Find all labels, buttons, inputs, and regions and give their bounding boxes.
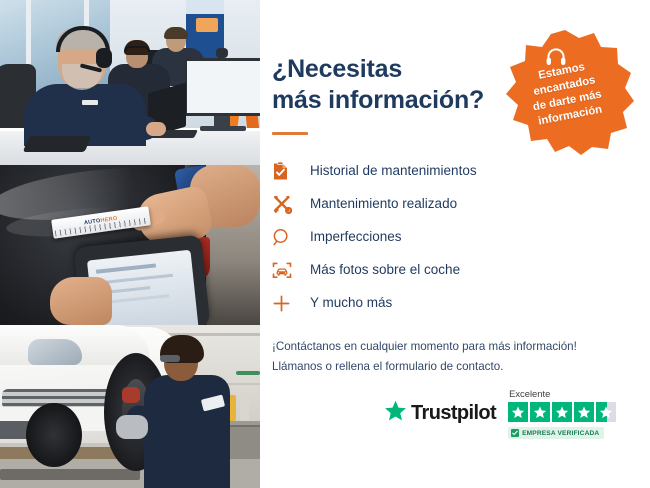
poster-decor — [196, 18, 218, 32]
title-divider — [272, 132, 308, 135]
inspector-hand-2 — [50, 277, 112, 325]
rating-label: Excelente — [509, 388, 550, 399]
feature-item-mantenimiento: Mantenimiento realizado — [272, 188, 650, 220]
star-filled-4 — [574, 402, 594, 422]
feature-label: Y mucho más — [310, 296, 392, 310]
star-rating — [508, 402, 616, 422]
document-check-icon — [272, 160, 298, 182]
photo-collage: AUTOHERO — [0, 0, 260, 488]
feature-item-historial: Historial de mantenimientos — [272, 155, 650, 187]
agent-hand — [146, 122, 166, 136]
trustpilot-logo[interactable]: Trustpilot — [384, 400, 496, 427]
feature-item-fotos: Más fotos sobre el coche — [272, 254, 650, 286]
star-filled-3 — [552, 402, 572, 422]
call-center-agent-photo — [0, 0, 260, 165]
tablet-decor — [23, 136, 91, 152]
car-lift-decor — [0, 469, 140, 480]
trustpilot-widget[interactable]: Trustpilot Excelente — [384, 388, 616, 439]
trustpilot-wordmark: Trustpilot — [411, 402, 496, 425]
check-icon — [511, 429, 519, 437]
feature-label: Imperfecciones — [310, 230, 402, 244]
contact-text: ¡Contáctanos en cualquier momento para m… — [272, 337, 650, 377]
feature-item-mas: Y mucho más — [272, 287, 650, 319]
headlight-decor — [28, 339, 82, 365]
monitor-decor — [184, 58, 260, 116]
bottle-decor-2 — [240, 399, 249, 421]
star-filled-2 — [530, 402, 550, 422]
status-badge: Estamos encantados de darte más informac… — [493, 28, 637, 156]
magnifier-icon — [272, 226, 298, 248]
green-hose-decor — [236, 371, 260, 375]
feature-label: Historial de mantenimientos — [310, 164, 477, 178]
mechanic-wheel-photo — [0, 325, 260, 488]
tools-icon — [272, 193, 298, 215]
safety-glasses-decor — [160, 355, 180, 362]
verified-business-badge: EMPRESA VERIFICADA — [508, 427, 604, 439]
mechanic-glove — [116, 415, 148, 439]
colleague-far-hair — [164, 27, 188, 39]
feature-label: Mantenimiento realizado — [310, 197, 457, 211]
star-filled-1 — [508, 402, 528, 422]
trustpilot-rating: Excelente — [508, 388, 616, 439]
feature-list: Historial de mantenimientos M — [272, 155, 650, 319]
promo-card: AUTOHERO — [0, 0, 650, 488]
feature-item-imperfecciones: Imperfecciones — [272, 221, 650, 253]
colleague-headset-icon — [124, 46, 150, 52]
tablet-line-decor-1 — [96, 263, 156, 273]
mechanic-tool-decor — [122, 387, 140, 403]
monitor-foot-decor — [200, 126, 246, 131]
plus-icon — [272, 292, 298, 314]
rear-wheel-decor — [26, 403, 82, 467]
star-partial-5 — [596, 402, 616, 422]
trustpilot-star-icon — [384, 400, 407, 427]
car-scan-icon — [272, 259, 298, 281]
webcam-decor — [216, 48, 228, 58]
car-inspection-photo: AUTOHERO — [0, 165, 260, 325]
verified-label: EMPRESA VERIFICADA — [522, 430, 599, 437]
feature-label: Más fotos sobre el coche — [310, 263, 460, 277]
agent-badge-decor — [82, 100, 98, 105]
agent-headset-cup-icon — [96, 48, 112, 68]
blue-panel-top-decor — [186, 0, 224, 14]
